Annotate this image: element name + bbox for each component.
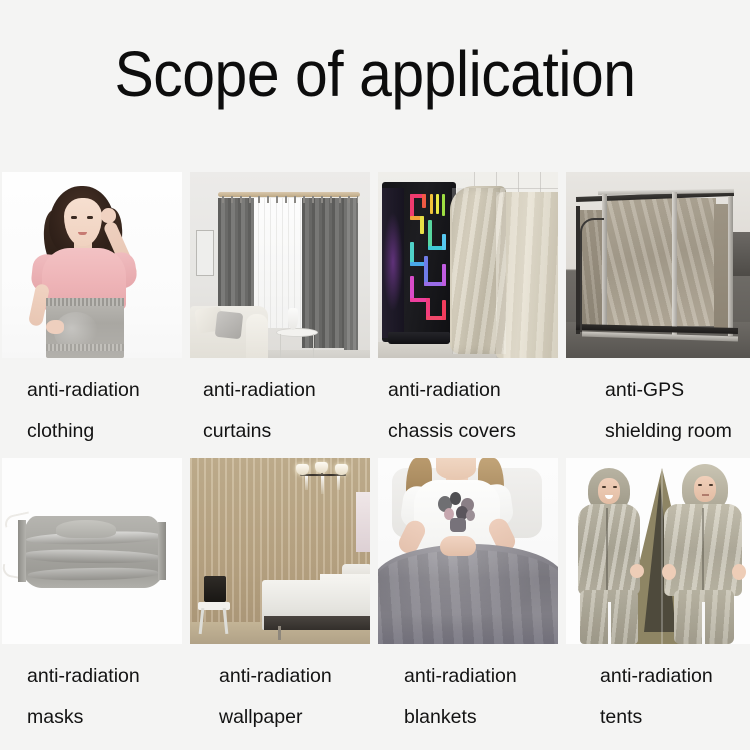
suit-zipper	[702, 508, 704, 592]
chandelier-bulb-3	[335, 464, 348, 475]
wall-art-frame	[196, 230, 214, 276]
caption-line2-anti-radiation-curtains: curtains	[203, 411, 271, 452]
person-face	[694, 476, 716, 502]
model-hand-on-belly	[46, 320, 64, 334]
caption-line2-anti-radiation-clothing: clothing	[27, 411, 94, 452]
background-wall-panel	[356, 492, 370, 552]
chandelier-crystal-1	[305, 476, 308, 490]
person-eye-left	[698, 484, 702, 486]
shielding-curtain-edge	[344, 198, 358, 350]
suit-leg-gap	[608, 602, 611, 644]
chair-back	[204, 576, 226, 602]
model-right-hand	[101, 208, 116, 223]
caption-line2-anti-radiation-masks: masks	[27, 697, 83, 738]
infographic-page: Scope of application anti	[0, 0, 750, 750]
product-image-anti-radiation-wallpaper[interactable]	[190, 458, 370, 644]
suit-zipper	[606, 508, 608, 592]
pc-tower-base	[388, 332, 450, 344]
shielding-room-cube	[576, 188, 734, 338]
product-image-anti-radiation-chassis-covers[interactable]	[378, 172, 558, 358]
chandelier-bulb-1	[296, 464, 309, 475]
shielding-curtain-right	[302, 198, 346, 348]
chandelier	[294, 462, 352, 496]
suit-torso	[578, 504, 640, 596]
apron-hem	[46, 344, 124, 351]
caption-line2-anti-radiation-wallpaper: wallpaper	[219, 697, 302, 738]
chandelier-crystal-2	[321, 476, 324, 494]
caption-line2-anti-gps-shielding-room: shielding room	[605, 411, 732, 452]
person-face	[598, 478, 620, 504]
caption-line2-anti-radiation-blankets: blankets	[404, 697, 477, 738]
curtain-rings	[222, 196, 358, 203]
cushion-gray	[215, 311, 244, 340]
person-hand-left	[662, 564, 676, 580]
mask-edge-left	[18, 520, 26, 582]
product-image-anti-radiation-masks[interactable]	[2, 458, 182, 644]
caption-line1-anti-gps-shielding-room: anti-GPS	[605, 370, 684, 411]
side-table	[276, 328, 316, 358]
mask-edge-right	[158, 522, 166, 580]
frame-pole-right	[728, 196, 733, 336]
pc-interior-glow	[383, 212, 403, 312]
product-image-anti-gps-shielding-room[interactable]	[566, 172, 750, 358]
person-eye-right	[709, 484, 713, 486]
side-table-legs	[280, 334, 314, 358]
model-eye-left	[71, 216, 77, 219]
product-image-anti-radiation-tents[interactable]	[566, 458, 750, 644]
suit-leg-gap	[702, 602, 705, 644]
person-eye-left	[602, 486, 606, 488]
caption-line1-anti-radiation-masks: anti-radiation	[27, 656, 140, 697]
sofa-arm	[246, 314, 268, 358]
model-folded-hands	[440, 536, 476, 556]
caption-line1-anti-radiation-wallpaper: anti-radiation	[219, 656, 332, 697]
caption-line1-anti-radiation-blankets: anti-radiation	[404, 656, 517, 697]
tshirt-graphic-print	[436, 492, 480, 534]
chair	[196, 576, 230, 632]
vase	[288, 308, 298, 330]
frame-pole-center	[672, 192, 677, 336]
blanket-folds	[378, 550, 558, 644]
rgb-maze-lighting	[408, 194, 452, 324]
chandelier-crystal-3	[337, 476, 340, 490]
shielding-cover-panel-folds	[496, 192, 558, 358]
caption-line1-anti-radiation-tents: anti-radiation	[600, 656, 713, 697]
bed-leg	[278, 626, 281, 640]
caption-line1-anti-radiation-clothing: anti-radiation	[27, 370, 140, 411]
person-hand	[630, 564, 644, 578]
page-title: Scope of application	[30, 38, 720, 110]
person-left-shielding-suit	[572, 468, 646, 644]
shield-panel-front	[604, 198, 716, 326]
chair-leg-left	[199, 608, 204, 634]
model-chin	[436, 458, 476, 480]
caption-line2-anti-radiation-chassis-covers: chassis covers	[388, 411, 516, 452]
person-right-shielding-suit	[662, 464, 746, 644]
product-image-anti-radiation-clothing[interactable]	[2, 172, 182, 358]
caption-line1-anti-radiation-curtains: anti-radiation	[203, 370, 316, 411]
model-eye-right	[87, 216, 93, 219]
apron-waistband	[46, 298, 124, 306]
door-opening-outline	[580, 218, 604, 332]
chandelier-bulb-2	[315, 462, 328, 473]
mask-nose-bridge	[56, 520, 116, 538]
caption-line2-anti-radiation-tents: tents	[600, 697, 642, 738]
person-hand-right	[732, 564, 746, 580]
person-mouth	[702, 494, 709, 496]
product-image-anti-radiation-blankets[interactable]	[378, 458, 558, 644]
caption-line1-anti-radiation-chassis-covers: anti-radiation	[388, 370, 501, 411]
chair-leg-right	[223, 608, 228, 634]
product-image-anti-radiation-curtains[interactable]	[190, 172, 370, 358]
person-eye-right	[613, 486, 617, 488]
